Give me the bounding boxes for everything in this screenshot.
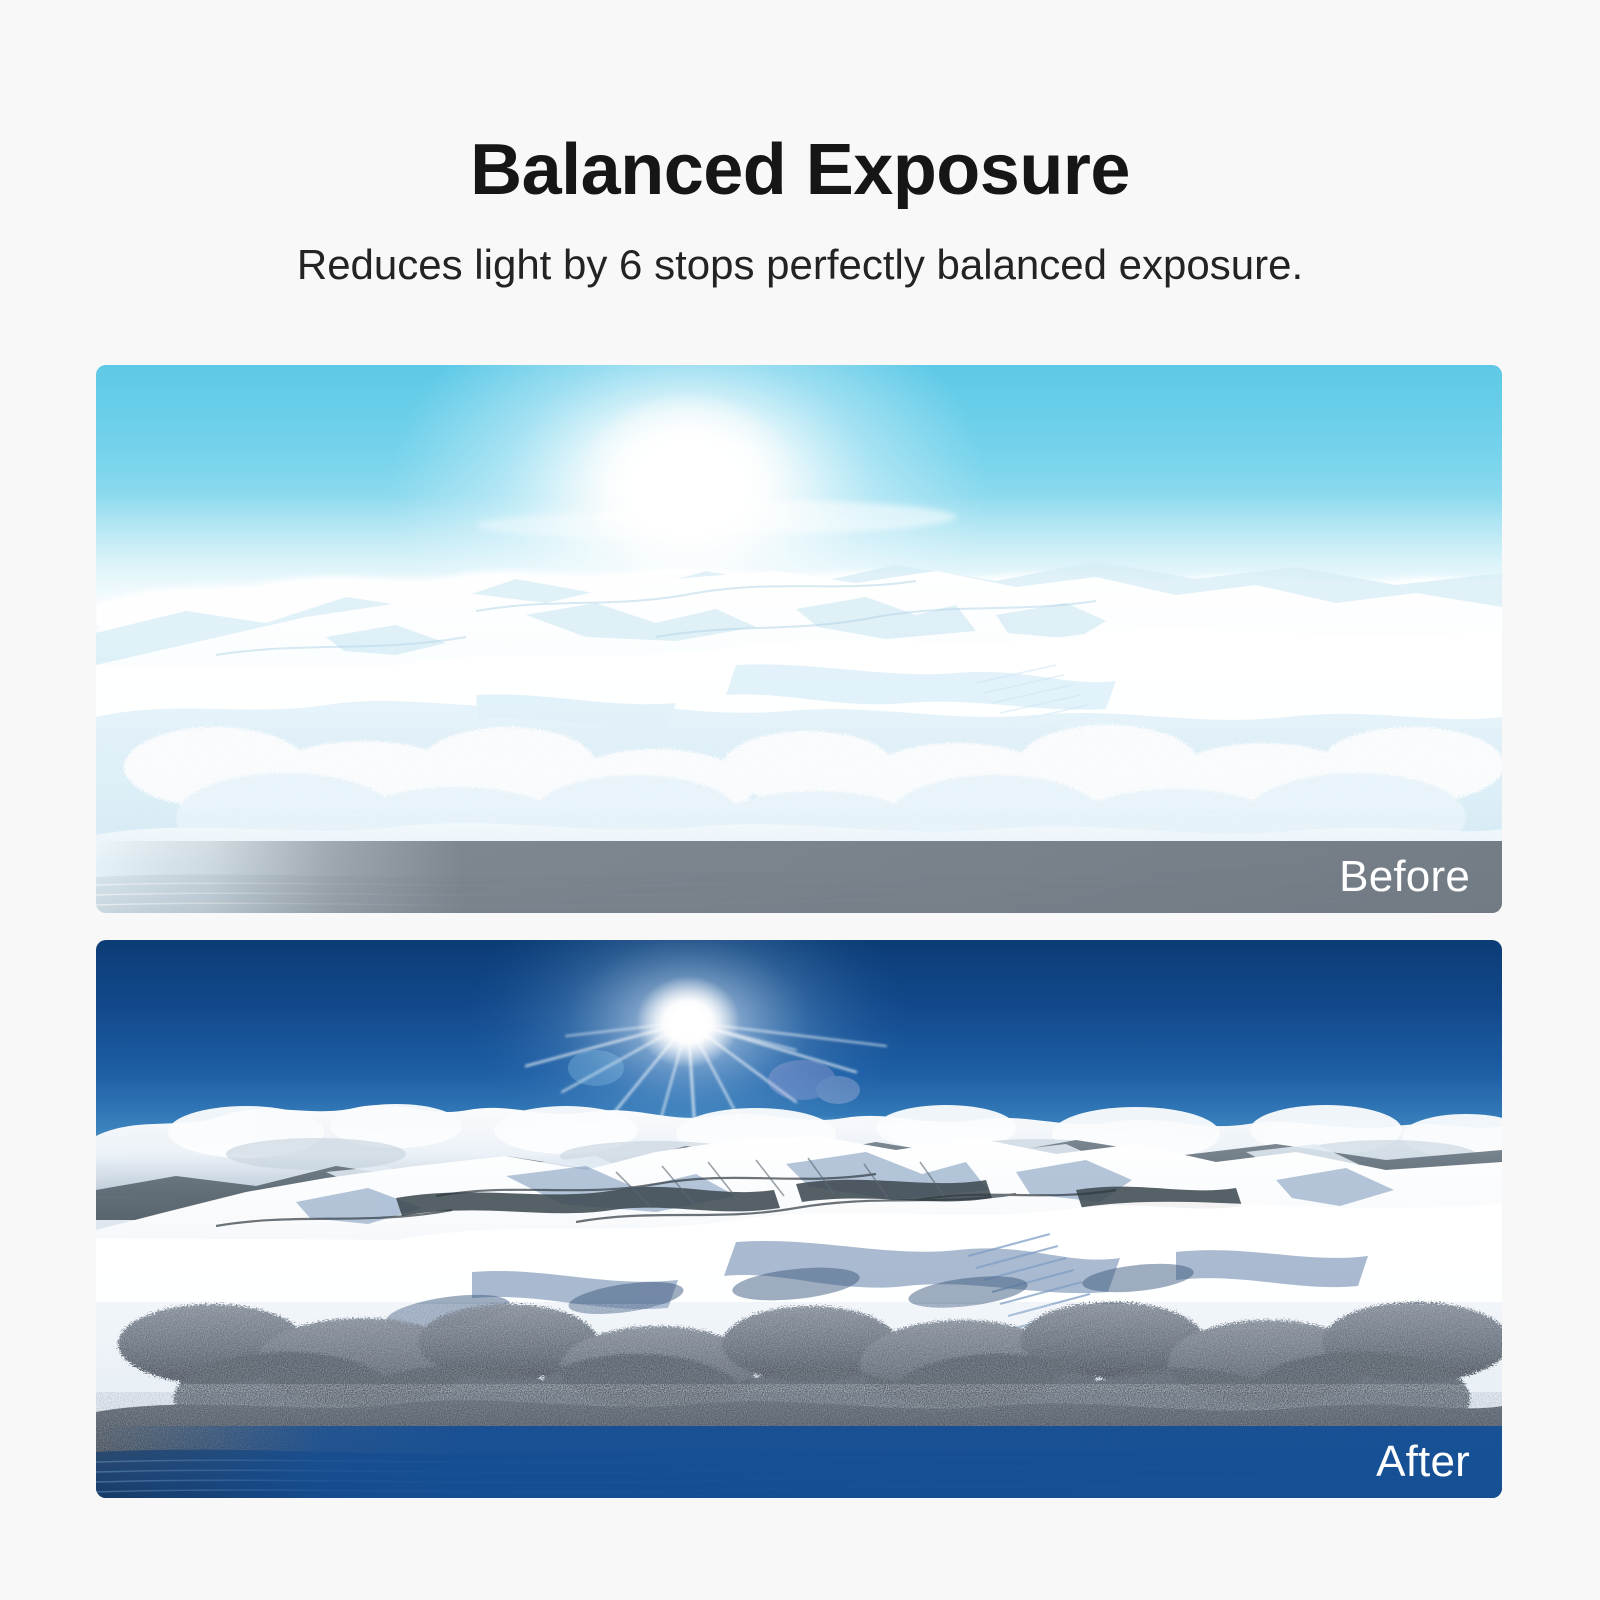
after-scene-illustration [96,940,1502,1498]
promo-page: Balanced Exposure Reduces light by 6 sto… [0,0,1600,1600]
page-title: Balanced Exposure [0,134,1600,206]
before-image-panel: Before [96,365,1502,913]
before-scene-illustration [96,365,1502,913]
after-image-panel: After [96,940,1502,1498]
page-subtitle: Reduces light by 6 stops perfectly balan… [0,240,1600,290]
